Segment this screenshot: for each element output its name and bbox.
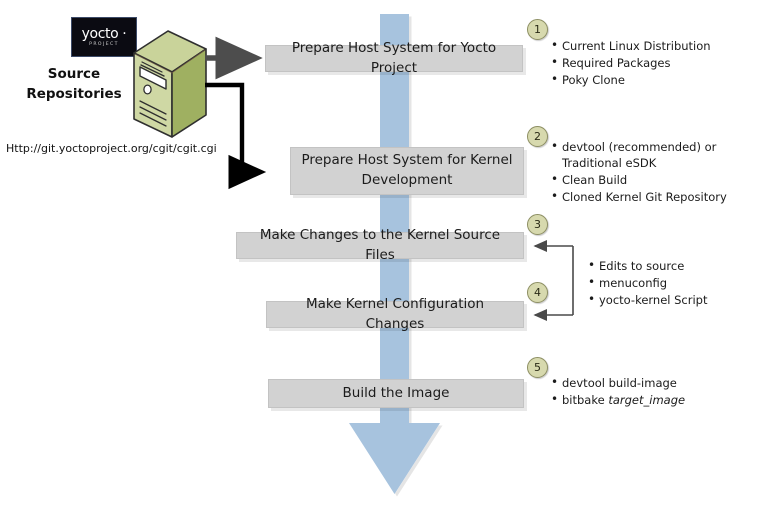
- list-item: bitbake target_image: [551, 392, 751, 408]
- server-tower-icon: [128, 27, 212, 143]
- bullets-steps-3-4: Edits to source menuconfig yocto-kernel …: [588, 258, 758, 309]
- list-item: devtool build-image: [551, 375, 751, 391]
- diagram-canvas: yocto · PROJECT Source Repositories Http…: [0, 0, 769, 517]
- source-repository-url: Http://git.yoctoproject.org/cgit/cgit.cg…: [6, 142, 217, 155]
- process-box-step-3[interactable]: Make Changes to the Kernel Source Files: [236, 232, 524, 259]
- yocto-logo-subtext: PROJECT: [89, 43, 119, 48]
- source-repositories-label: Source Repositories: [14, 64, 134, 104]
- list-item: devtool (recommended) or Traditional eSD…: [551, 139, 727, 171]
- list-item: menuconfig: [588, 275, 758, 291]
- list-item: Current Linux Distribution: [551, 38, 763, 54]
- source-label-line2: Repositories: [14, 84, 134, 104]
- process-box-step-2[interactable]: Prepare Host System for Kernel Developme…: [290, 147, 524, 195]
- list-item: Clean Build: [551, 172, 727, 188]
- bullets-step-1: Current Linux Distribution Required Pack…: [551, 38, 763, 89]
- process-box-step-1[interactable]: Prepare Host System for Yocto Project: [265, 45, 523, 72]
- list-item: Cloned Kernel Git Repository: [551, 189, 727, 205]
- yocto-logo-wordmark: yocto ·: [82, 27, 127, 41]
- step-number-4: 4: [527, 282, 548, 303]
- process-box-step-4[interactable]: Make Kernel Configuration Changes: [266, 301, 524, 328]
- step-number-2: 2: [527, 126, 548, 147]
- bitbake-target-italic: target_image: [608, 393, 685, 407]
- bullets-step-5: devtool build-image bitbake target_image: [551, 375, 751, 409]
- arrow-server-to-step2: [205, 85, 260, 172]
- step-number-5: 5: [527, 357, 548, 378]
- feedback-loop-step3-step4: [535, 246, 573, 315]
- process-box-step-5[interactable]: Build the Image: [268, 379, 524, 408]
- source-label-line1: Source: [14, 64, 134, 84]
- list-item: Required Packages: [551, 55, 763, 71]
- step-number-1: 1: [527, 19, 548, 40]
- bitbake-command-label: bitbake: [562, 393, 608, 407]
- step-number-3: 3: [527, 214, 548, 235]
- bullets-step-2: devtool (recommended) or Traditional eSD…: [551, 139, 727, 206]
- list-item: Poky Clone: [551, 72, 763, 88]
- list-item: Edits to source: [588, 258, 758, 274]
- list-item: yocto-kernel Script: [588, 292, 758, 308]
